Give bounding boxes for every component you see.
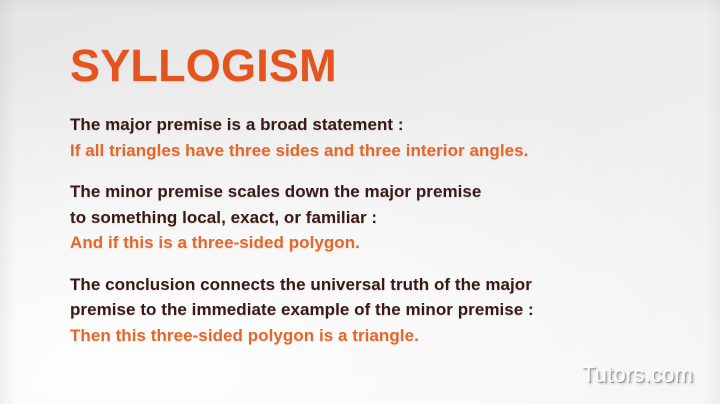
conclusion-definition-line-2: premise to the immediate example of the … [70,297,670,323]
slide-content: SYLLOGISM The major premise is a broad s… [70,42,670,348]
major-premise-definition-line-1: The major premise is a broad statement : [70,112,670,138]
conclusion-example-line-1: Then this three-sided polygon is a trian… [70,323,670,349]
minor-premise-definition-line-1: The minor premise scales down the major … [70,179,670,205]
major-premise-example-line-1: If all triangles have three sides and th… [70,138,670,164]
watermark-tutors-dot-com: Tutors.com [582,362,693,388]
premise-block-major: The major premise is a broad statement :… [70,112,670,163]
minor-premise-definition-line-2: to something local, exact, or familiar : [70,205,670,231]
premise-block-minor: The minor premise scales down the major … [70,179,670,256]
slide-canvas: SYLLOGISM The major premise is a broad s… [0,0,720,404]
conclusion-definition-line-1: The conclusion connects the universal tr… [70,272,670,298]
premise-block-conclusion: The conclusion connects the universal tr… [70,272,670,349]
page-title: SYLLOGISM [70,42,670,90]
minor-premise-example-line-1: And if this is a three-sided polygon. [70,230,670,256]
